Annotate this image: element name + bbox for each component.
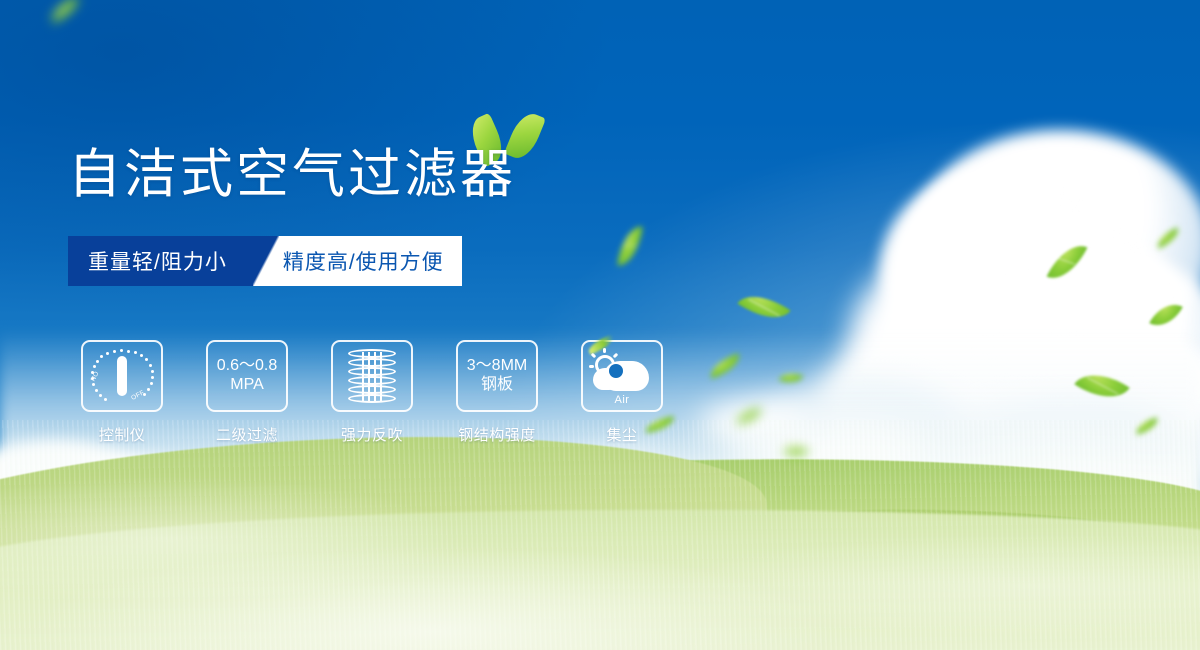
subtitle-divider [253, 236, 279, 286]
pressure-value-icon: 0.6～0.8 MPA [217, 357, 278, 395]
feature-icon-box: 3～8MM 钢板 [456, 340, 538, 412]
feature-icon-box: 0.6～0.8 MPA [206, 340, 288, 412]
subtitle-bar: 重量轻/阻力小 精度高/使用方便 [68, 236, 462, 286]
pressure-unit: MPA [217, 376, 278, 395]
gauge-needle [117, 356, 127, 396]
subtitle-right: 精度高/使用方便 [279, 236, 462, 286]
feature-label: 二级过滤 [216, 424, 278, 445]
air-label: Air [591, 394, 653, 406]
feature-item-filtration[interactable]: 0.6～0.8 MPA 二级过滤 [206, 340, 288, 445]
feature-item-dust[interactable]: Air 集尘 [581, 340, 663, 445]
grass-field [0, 420, 1200, 650]
feature-label: 强力反吹 [341, 424, 403, 445]
gauge-label-off: OFF [130, 389, 146, 402]
feature-item-controller[interactable]: NO OFF 控制仪 [81, 340, 163, 445]
feature-list: NO OFF 控制仪 0.6～0.8 MPA 二级过滤 [81, 340, 663, 445]
steel-material: 钢板 [467, 376, 527, 395]
steel-plate-icon: 3～8MM 钢板 [467, 357, 527, 395]
feature-icon-box: NO OFF [81, 340, 163, 412]
feature-icon-box [331, 340, 413, 412]
feature-item-backblow[interactable]: 强力反吹 [331, 340, 413, 445]
feature-label: 钢结构强度 [458, 424, 536, 445]
feature-label: 集尘 [606, 424, 637, 445]
feature-label: 控制仪 [99, 424, 146, 445]
cloud-air-icon: Air [591, 348, 653, 404]
page-title: 自洁式空气过滤器 [68, 148, 516, 201]
feature-icon-box: Air [581, 340, 663, 412]
pressure-range: 0.6～0.8 [217, 357, 278, 376]
steel-thickness: 3～8MM [467, 357, 527, 376]
subtitle-left: 重量轻/阻力小 [68, 236, 253, 286]
filter-coil-icon [348, 348, 396, 404]
product-hero-banner: 自洁式空气过滤器 重量轻/阻力小 精度高/使用方便 [0, 0, 1200, 650]
feature-item-steel[interactable]: 3～8MM 钢板 钢结构强度 [456, 340, 538, 445]
grass-sunlight [0, 420, 1200, 650]
gauge-icon: NO OFF [91, 347, 153, 405]
